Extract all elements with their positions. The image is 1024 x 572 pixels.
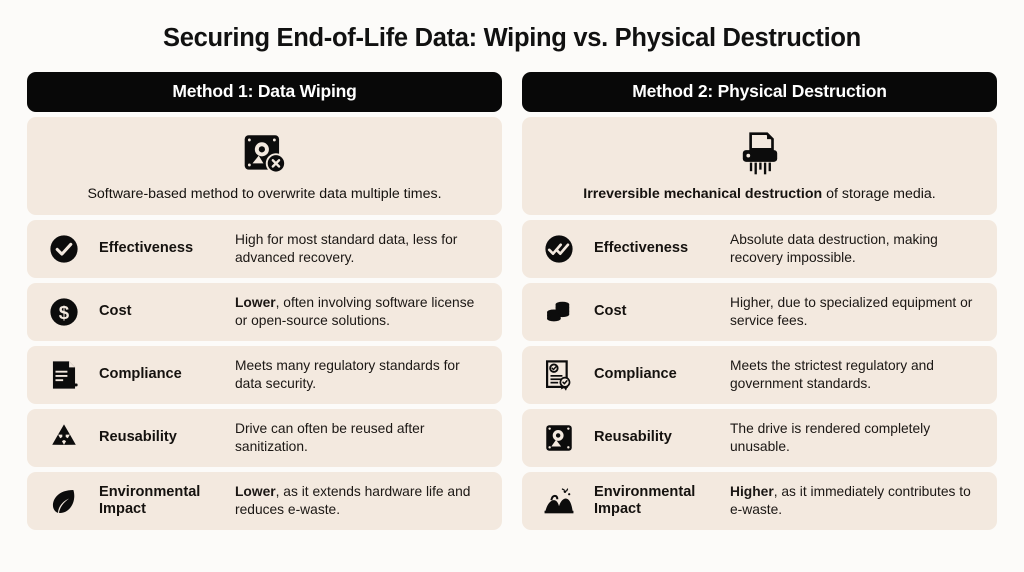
document-stamp-icon [43,358,85,392]
intro-text-method-2: Irreversible mechanical destruction of s… [583,186,936,204]
table-row: Reusability The drive is rendered comple… [522,409,997,467]
comparison-columns: Method 1: Data Wiping [0,52,1024,530]
row-desc-lead: Lower [235,484,276,499]
row-label: Effectiveness [85,240,231,257]
column-header-method-1: Method 1: Data Wiping [27,72,502,112]
row-label: Effectiveness [580,240,726,257]
row-desc-body: The drive is rendered completely unusabl… [730,421,930,454]
column-header-method-2: Method 2: Physical Destruction [522,72,997,112]
column-method-1: Method 1: Data Wiping [27,72,502,530]
leaf-icon [43,484,85,518]
intro-body-method-2: of storage media. [822,186,936,202]
table-row: Environmental Impact Lower, as it extend… [27,472,502,530]
row-description: Drive can often be reused after sanitiza… [231,420,488,455]
intro-text-method-1: Software-based method to overwrite data … [87,186,441,204]
waste-pile-icon [538,484,580,518]
row-desc-lead: Higher [730,484,774,499]
hard-drive-x-icon [240,128,290,180]
row-description: Meets many regulatory standards for data… [231,357,488,392]
table-row: Compliance Meets the strictest regulator… [522,346,997,404]
column-method-2: Method 2: Physical Destruction [522,72,997,530]
row-label: Cost [580,303,726,320]
dollar-circle-icon: $ [43,295,85,329]
row-desc-body: Absolute data destruction, making recove… [730,232,938,265]
coin-stacks-icon [538,295,580,329]
table-row: Cost Higher, due to specialized equipmen… [522,283,997,341]
row-label: Environmental Impact [580,484,726,518]
infographic-page: Securing End-of-Life Data: Wiping vs. Ph… [0,0,1024,572]
row-desc-lead: Lower [235,295,276,310]
row-label: Reusability [85,429,231,446]
page-title: Securing End-of-Life Data: Wiping vs. Ph… [0,0,1024,52]
row-label: Compliance [85,366,231,383]
check-circle-icon [43,232,85,266]
row-description: Meets the strictest regulatory and gover… [726,357,983,392]
table-row: Environmental Impact Higher, as it immed… [522,472,997,530]
intro-body-method-1: Software-based method to overwrite data … [87,186,441,202]
row-label: Cost [85,303,231,320]
certificate-seal-icon [538,358,580,392]
table-row: Effectiveness High for most standard dat… [27,220,502,278]
double-check-circle-icon [538,232,580,266]
row-label: Environmental Impact [85,484,231,518]
table-row: $ Cost Lower, often involving software l… [27,283,502,341]
row-description: Absolute data destruction, making recove… [726,231,983,266]
intro-card-method-2: Irreversible mechanical destruction of s… [522,117,997,215]
row-description: Lower, as it extends hardware life and r… [231,483,488,518]
row-desc-body: Drive can often be reused after sanitiza… [235,421,424,454]
row-description: Higher, due to specialized equipment or … [726,294,983,329]
row-description: Lower, often involving software license … [231,294,488,329]
paper-shredder-icon [735,128,785,180]
table-row: Compliance Meets many regulatory standar… [27,346,502,404]
row-description: Higher, as it immediately contributes to… [726,483,983,518]
row-desc-body: Higher, due to specialized equipment or … [730,295,972,328]
intro-card-method-1: Software-based method to overwrite data … [27,117,502,215]
recycle-icon [43,421,85,455]
row-desc-body: Meets many regulatory standards for data… [235,358,460,391]
row-desc-body: High for most standard data, less for ad… [235,232,457,265]
row-label: Compliance [580,366,726,383]
hard-drive-icon [538,421,580,455]
intro-lead-method-2: Irreversible mechanical destruction [583,186,822,202]
row-description: High for most standard data, less for ad… [231,231,488,266]
table-row: Reusability Drive can often be reused af… [27,409,502,467]
row-desc-body: Meets the strictest regulatory and gover… [730,358,934,391]
svg-text:$: $ [59,302,70,323]
row-description: The drive is rendered completely unusabl… [726,420,983,455]
row-label: Reusability [580,429,726,446]
table-row: Effectiveness Absolute data destruction,… [522,220,997,278]
